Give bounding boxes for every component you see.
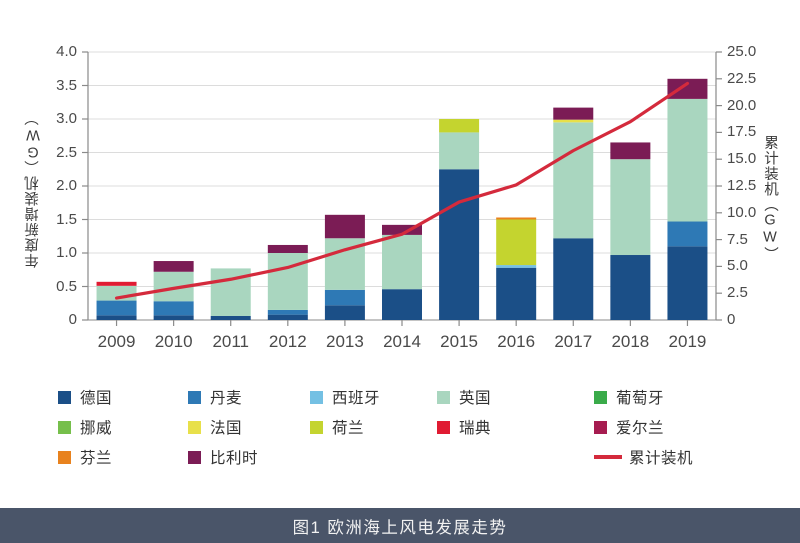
x-axis-tick-label: 2011 xyxy=(201,332,261,352)
y-axis-right-tick-label: 22.5 xyxy=(727,71,756,86)
y-axis-right-title: 累计装机（GW） xyxy=(760,135,781,262)
y-axis-right-tick-label: 10.0 xyxy=(727,205,756,220)
bar-segment[interactable] xyxy=(268,245,308,253)
legend-color-swatch xyxy=(188,451,201,464)
legend-color-swatch xyxy=(58,421,71,434)
bar-segment[interactable] xyxy=(553,120,593,123)
chart-plot-area: 年度新增装机（GW） 累计装机（GW） 00.51.01.52.02.53.03… xyxy=(0,0,800,380)
bar-segment[interactable] xyxy=(496,220,536,266)
legend-item-label: 瑞典 xyxy=(459,416,491,438)
y-axis-right-tick-label: 7.5 xyxy=(727,232,748,247)
legend-item[interactable]: 荷兰 xyxy=(310,416,364,438)
y-axis-right-tick-label: 17.5 xyxy=(727,124,756,139)
x-axis-tick-label: 2017 xyxy=(543,332,603,352)
x-axis-tick-label: 2019 xyxy=(657,332,717,352)
legend-item-label: 芬兰 xyxy=(80,446,112,468)
legend-item-label: 累计装机 xyxy=(629,446,693,468)
bar-segment[interactable] xyxy=(496,268,536,320)
y-axis-right-tick-label: 2.5 xyxy=(727,285,748,300)
y-axis-left-tick-label: 3.5 xyxy=(56,78,77,93)
bar-segment[interactable] xyxy=(496,265,536,268)
x-axis-tick-label: 2018 xyxy=(600,332,660,352)
legend-item[interactable]: 挪威 xyxy=(58,416,112,438)
legend-item[interactable]: 德国 xyxy=(58,386,112,408)
bar-segment[interactable] xyxy=(268,310,308,315)
legend-item[interactable]: 爱尔兰 xyxy=(594,416,664,438)
caption-bar: 图1 欧洲海上风电发展走势 xyxy=(0,508,800,543)
chart-svg xyxy=(0,0,800,380)
bar-segment[interactable] xyxy=(496,217,536,219)
bar-segment[interactable] xyxy=(325,215,365,238)
legend-color-swatch xyxy=(437,391,450,404)
y-axis-left-tick-label: 3.0 xyxy=(56,111,77,126)
y-axis-right-tick-label: 12.5 xyxy=(727,178,756,193)
bar-segment[interactable] xyxy=(211,316,251,320)
bar-segment[interactable] xyxy=(610,142,650,159)
legend-color-swatch xyxy=(594,391,607,404)
legend-item[interactable]: 比利时 xyxy=(188,446,258,468)
x-axis-tick-label: 2015 xyxy=(429,332,489,352)
legend-item[interactable]: 芬兰 xyxy=(58,446,112,468)
y-axis-right-tick-label: 0 xyxy=(727,312,735,327)
legend-item[interactable]: 瑞典 xyxy=(437,416,491,438)
bar-segment[interactable] xyxy=(439,132,479,169)
y-axis-left-tick-label: 0 xyxy=(69,312,77,327)
bar-segment[interactable] xyxy=(382,289,422,320)
legend-item-label: 葡萄牙 xyxy=(616,386,664,408)
legend-item[interactable]: 法国 xyxy=(188,416,242,438)
legend-item[interactable]: 西班牙 xyxy=(310,386,380,408)
bar-segment[interactable] xyxy=(553,108,593,120)
y-axis-left-tick-label: 1.5 xyxy=(56,212,77,227)
legend-item-label: 英国 xyxy=(459,386,491,408)
legend-item-label: 德国 xyxy=(80,386,112,408)
bar-segment[interactable] xyxy=(325,290,365,305)
bar-segment[interactable] xyxy=(268,315,308,320)
bar-segment[interactable] xyxy=(667,246,707,320)
bar-segment[interactable] xyxy=(325,305,365,320)
legend-line-swatch xyxy=(594,455,622,459)
bar-segment[interactable] xyxy=(439,119,479,132)
x-axis-tick-label: 2010 xyxy=(144,332,204,352)
legend-item[interactable]: 葡萄牙 xyxy=(594,386,664,408)
bar-segment[interactable] xyxy=(154,301,194,315)
legend-color-swatch xyxy=(310,391,323,404)
bar-segment[interactable] xyxy=(439,169,479,320)
y-axis-right-tick-label: 25.0 xyxy=(727,44,756,59)
bar-segment[interactable] xyxy=(97,301,137,316)
chart-legend: 德国丹麦西班牙英国葡萄牙挪威法国荷兰瑞典爱尔兰芬兰比利时累计装机 xyxy=(0,380,800,490)
bar-segment[interactable] xyxy=(610,255,650,320)
x-axis-tick-label: 2009 xyxy=(87,332,147,352)
bar-segment[interactable] xyxy=(97,282,137,286)
bar-segment[interactable] xyxy=(667,99,707,222)
bar-segment[interactable] xyxy=(553,122,593,238)
legend-item-label: 西班牙 xyxy=(332,386,380,408)
bar-segment[interactable] xyxy=(154,315,194,320)
figure-container: 年度新增装机（GW） 累计装机（GW） 00.51.01.52.02.53.03… xyxy=(0,0,800,543)
bar-segment[interactable] xyxy=(382,235,422,289)
legend-item-label: 法国 xyxy=(210,416,242,438)
legend-item-label: 丹麦 xyxy=(210,386,242,408)
y-axis-left-tick-label: 4.0 xyxy=(56,44,77,59)
legend-item-label: 挪威 xyxy=(80,416,112,438)
bar-segment[interactable] xyxy=(667,222,707,247)
legend-item[interactable]: 英国 xyxy=(437,386,491,408)
y-axis-left-tick-label: 2.0 xyxy=(56,178,77,193)
bar-segment[interactable] xyxy=(154,261,194,272)
legend-item-label: 荷兰 xyxy=(332,416,364,438)
legend-item[interactable]: 丹麦 xyxy=(188,386,242,408)
legend-color-swatch xyxy=(58,391,71,404)
bar-segment[interactable] xyxy=(553,238,593,320)
legend-item-label: 比利时 xyxy=(210,446,258,468)
figure-caption: 图1 欧洲海上风电发展走势 xyxy=(293,514,508,538)
x-axis-tick-label: 2014 xyxy=(372,332,432,352)
y-axis-right-tick-label: 15.0 xyxy=(727,151,756,166)
y-axis-left-tick-label: 1.0 xyxy=(56,245,77,260)
legend-color-swatch xyxy=(310,421,323,434)
legend-color-swatch xyxy=(594,421,607,434)
y-axis-right-tick-label: 5.0 xyxy=(727,258,748,273)
y-axis-right-tick-label: 20.0 xyxy=(727,98,756,113)
legend-item[interactable]: 累计装机 xyxy=(594,446,693,468)
legend-color-swatch xyxy=(188,391,201,404)
legend-color-swatch xyxy=(188,421,201,434)
y-axis-left-tick-label: 0.5 xyxy=(56,279,77,294)
x-axis-tick-label: 2016 xyxy=(486,332,546,352)
legend-item-label: 爱尔兰 xyxy=(616,416,664,438)
y-axis-left-title: 年度新增装机（GW） xyxy=(22,110,43,268)
y-axis-left-tick-label: 2.5 xyxy=(56,145,77,160)
bar-segment[interactable] xyxy=(610,159,650,255)
legend-color-swatch xyxy=(437,421,450,434)
x-axis-tick-label: 2012 xyxy=(258,332,318,352)
x-axis-tick-label: 2013 xyxy=(315,332,375,352)
bar-segment[interactable] xyxy=(97,315,137,320)
legend-color-swatch xyxy=(58,451,71,464)
